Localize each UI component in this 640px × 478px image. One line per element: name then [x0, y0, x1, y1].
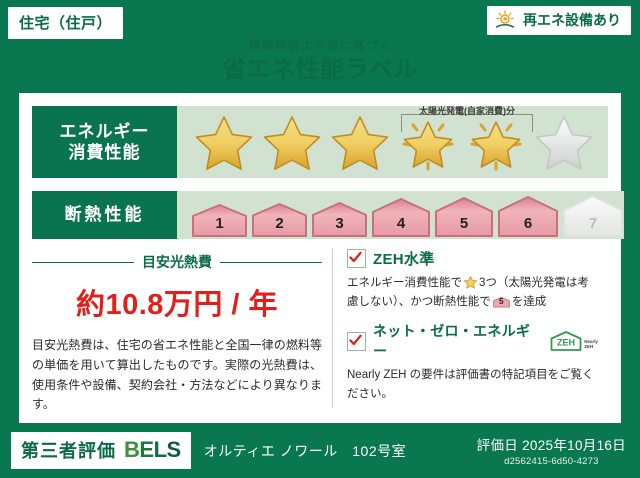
zeh-standard-body-part2: を達成: [512, 296, 547, 308]
zeh-standard-block: ZEH水準 エネルギー消費性能で3つ（太陽光発電は考慮しない）、かつ断熱性能で5…: [347, 248, 598, 311]
star-2: [259, 111, 325, 173]
inline-house-level: 5: [493, 296, 510, 309]
zeh-house-icon: ZEH: [549, 330, 583, 352]
renewable-badge-label: 再エネ設備あり: [523, 10, 621, 30]
energy-performance-label: エネルギー 消費性能: [32, 106, 177, 178]
svg-text:ZEH: ZEH: [557, 338, 575, 348]
insulation-house-2: 2: [251, 202, 308, 237]
insulation-house-4-num: 4: [371, 215, 431, 232]
energy-star-panel: 太陽光発電(自家消費)分: [177, 106, 608, 178]
star-6-empty: [531, 111, 597, 173]
insulation-grade-panel: 1 2 3: [177, 191, 624, 239]
label-title-block: 建築物省エネ法に基づく 省エネ性能ラベル: [0, 40, 640, 83]
insulation-house-1: 1: [191, 203, 248, 237]
star-4-solar: 太陽光発電(自家消費)分: [395, 111, 461, 173]
title-main: 省エネ性能ラベル: [0, 57, 640, 83]
sun-icon: [494, 10, 518, 30]
evaluation-id: d2562415-6d50-4273: [477, 456, 626, 467]
insulation-grade-scale: 1 2 3: [177, 194, 624, 237]
insulation-house-5-num: 5: [434, 215, 494, 232]
insulation-house-7-num: 7: [562, 215, 624, 232]
zeh-standard-title: ZEH水準: [373, 248, 435, 269]
zeh-netzero-block: ネット・ゼロ・エネルギー ZEH Nearly ZEH: [347, 321, 598, 403]
evaluation-date: 評価日 2025年10月16日: [477, 434, 626, 454]
zeh-netzero-heading: ネット・ゼロ・エネルギー ZEH Nearly ZEH: [347, 321, 598, 361]
insulation-house-1-num: 1: [191, 215, 248, 232]
insulation-house-5: 5: [434, 196, 494, 237]
detail-columns: 目安光熱費 約10.8万円 / 年 目安光熱費は、住宅の省エネ性能と全国一律の燃…: [32, 248, 608, 408]
zeh-logo: ZEH Nearly ZEH: [549, 330, 598, 352]
insulation-house-6-num: 6: [497, 215, 559, 232]
zeh-standard-heading: ZEH水準: [347, 248, 598, 269]
insulation-house-3: 3: [311, 201, 368, 237]
utility-cost-heading-text: 目安光熱費: [142, 252, 212, 272]
insulation-performance-row: 断熱性能 1: [32, 191, 608, 239]
star-1: [191, 111, 257, 173]
utility-cost-value: 約10.8万円 / 年: [32, 281, 322, 323]
insulation-performance-label: 断熱性能: [32, 191, 177, 239]
check-icon: [349, 334, 362, 347]
zeh-netzero-checkbox[interactable]: [347, 332, 366, 351]
zeh-netzero-body: Nearly ZEH の要件は評価書の特記項目をご覧ください。: [347, 366, 598, 403]
star-3: [327, 111, 393, 173]
zeh-logo-sub-line2: ZEH: [584, 345, 598, 350]
zeh-standard-body: エネルギー消費性能で3つ（太陽光発電は考慮しない）、かつ断熱性能で5を達成: [347, 274, 598, 311]
star-rating: 太陽光発電(自家消費)分: [177, 111, 597, 173]
zeh-logo-sub: Nearly ZEH: [584, 340, 598, 352]
energy-label-line2: 消費性能: [69, 142, 141, 163]
property-name: オルティエ ノワール 102号室: [204, 441, 406, 461]
utility-cost-heading: 目安光熱費: [32, 252, 322, 272]
insulation-house-4: 4: [371, 197, 431, 237]
energy-label-line1: エネルギー: [60, 121, 150, 142]
zeh-column: ZEH水準 エネルギー消費性能で3つ（太陽光発電は考慮しない）、かつ断熱性能で5…: [332, 248, 598, 408]
insulation-house-3-num: 3: [311, 215, 368, 232]
insulation-house-7-empty: 7: [562, 194, 624, 237]
label-card: エネルギー 消費性能: [19, 93, 621, 423]
evaluation-info: 評価日 2025年10月16日 d2562415-6d50-4273: [477, 434, 626, 467]
bels-energy-label: 住宅（住戸） 再エネ設備あり 建築物省エネ法に基づく 省エネ性能ラベル: [0, 0, 640, 478]
label-footer: 第三者評価 BELS オルティエ ノワール 102号室 評価日 2025年10月…: [0, 423, 640, 478]
cost-rule-left: [32, 262, 134, 263]
energy-performance-row: エネルギー 消費性能: [32, 106, 608, 178]
insulation-house-6: 6: [497, 195, 559, 237]
utility-cost-note: 目安光熱費は、住宅の省エネ性能と全国一律の燃料等の単価を用いて算出したものです。…: [32, 336, 322, 415]
title-subtitle: 建築物省エネ法に基づく: [0, 40, 640, 54]
zeh-standard-checkbox[interactable]: [347, 249, 366, 268]
star-5-solar: [463, 111, 529, 173]
bels-en-label: BELS: [124, 437, 181, 463]
inline-house-badge: 5: [493, 295, 510, 309]
insulation-house-2-num: 2: [251, 215, 308, 232]
zeh-netzero-title: ネット・ゼロ・エネルギー: [373, 321, 538, 361]
check-icon: [349, 251, 362, 264]
zeh-standard-body-part1: エネルギー消費性能で: [347, 277, 462, 289]
cost-rule-right: [220, 262, 322, 263]
house-type-tag: 住宅（住戸）: [8, 7, 123, 39]
bels-jp-label: 第三者評価: [21, 437, 116, 463]
inline-star-icon: [463, 275, 478, 289]
utility-cost-column: 目安光熱費 約10.8万円 / 年 目安光熱費は、住宅の省エネ性能と全国一律の燃…: [32, 248, 332, 408]
bels-certification-mark: 第三者評価 BELS: [11, 432, 191, 469]
renewable-equipment-badge: 再エネ設備あり: [487, 6, 631, 35]
